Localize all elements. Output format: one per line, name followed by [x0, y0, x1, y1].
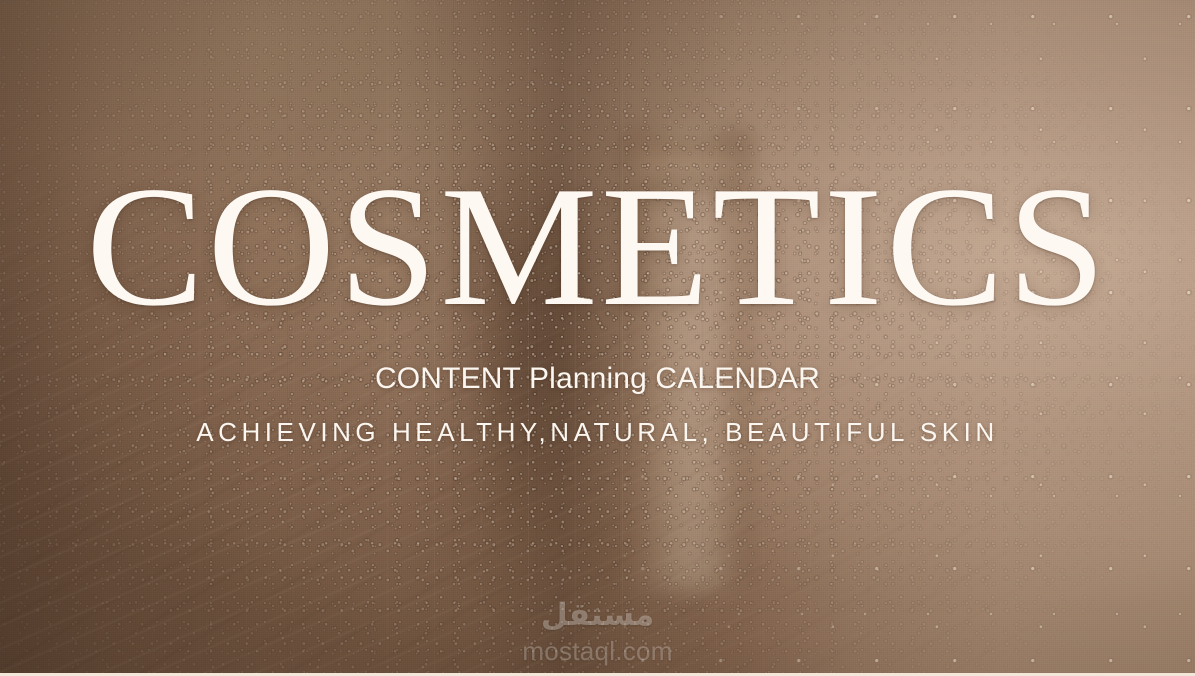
page-subtitle: CONTENT Planning CALENDAR [0, 362, 1195, 396]
page-tagline: ACHIEVING HEALTHY,NATURAL, BEAUTIFUL SKI… [90, 414, 1105, 452]
cover-text-block: COSMETICS CONTENT Planning CALENDAR ACHI… [0, 0, 1195, 676]
page-title: COSMETICS [0, 161, 1195, 333]
cover-slide: COSMETICS CONTENT Planning CALENDAR ACHI… [0, 0, 1195, 676]
